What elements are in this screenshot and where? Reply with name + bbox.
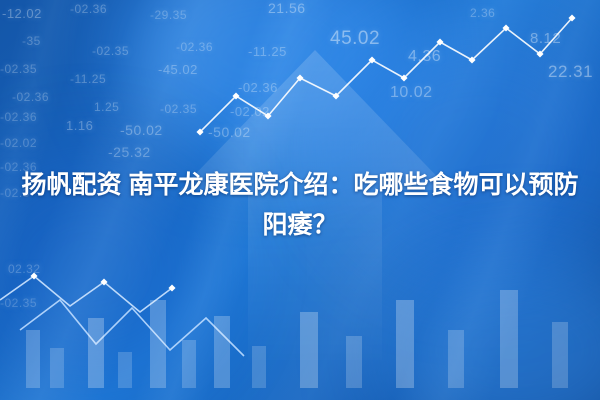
- background-number: 21.56: [268, 0, 306, 16]
- background-number: -02.36: [12, 90, 49, 104]
- headline-line-2: 阳痿？: [262, 211, 337, 239]
- background-number-layer: -12.02-02.36-29.3521.5645.022.368.12-35-…: [0, 0, 600, 400]
- chart-bar: [118, 352, 132, 388]
- chart-marker: [502, 24, 509, 31]
- background-glow-top-right: [330, 20, 600, 280]
- light-beam: [0, 0, 109, 400]
- chart-bar: [150, 300, 166, 388]
- chart-bar: [88, 318, 104, 388]
- chart-bar: [50, 348, 64, 388]
- light-beam: [360, 0, 600, 400]
- chart-marker: [332, 92, 339, 99]
- background-number: -12.02: [2, 6, 42, 21]
- background-number: -02.3: [0, 186, 30, 200]
- background-number: 2.36: [470, 6, 495, 20]
- chart-marker: [468, 56, 475, 63]
- chart-bar: [396, 300, 414, 388]
- chart-marker: [400, 74, 407, 81]
- light-beam: [97, 0, 374, 400]
- background-number: -02.36: [0, 160, 37, 174]
- chart-bar: [552, 322, 568, 388]
- up-arrow-icon: [150, 40, 480, 370]
- background-number: 45.02: [330, 28, 380, 50]
- background-number: -50.02: [120, 122, 163, 138]
- background-number: 8.12: [530, 30, 561, 47]
- background-glow-top-left: [120, 0, 420, 160]
- background-number: -11.25: [248, 44, 287, 59]
- chart-marker: [196, 128, 203, 135]
- headline-line-1: 扬帆配资 南平龙康医院介绍：吃哪些食物可以预防: [22, 171, 579, 199]
- promo-banner: -12.02-02.36-29.3521.5645.022.368.12-35-…: [0, 0, 600, 400]
- background-number: -02.35: [92, 44, 129, 58]
- background-number: 22.31: [548, 62, 593, 82]
- chart-line: [20, 300, 244, 356]
- chart-bar: [448, 330, 464, 388]
- background-number: -02.36: [0, 110, 37, 124]
- chart-marker: [30, 272, 37, 279]
- chart-marker: [264, 112, 271, 119]
- line-chart-overlay: [0, 0, 600, 400]
- light-beam: [0, 0, 296, 400]
- background-number: -02.36: [238, 80, 278, 95]
- background-number: 02.32: [8, 262, 41, 276]
- chart-marker: [100, 278, 107, 285]
- chart-line: [0, 276, 172, 312]
- page-title: 扬帆配资 南平龙康医院介绍：吃哪些食物可以预防 阳痿？: [20, 165, 580, 245]
- background-number: -02.36: [176, 40, 213, 54]
- background-glow-bottom-right: [380, 250, 600, 400]
- background-number: -02.02: [0, 136, 37, 150]
- background-number: 10.02: [390, 84, 433, 102]
- chart-line: [200, 18, 572, 132]
- background-number: -02.35: [0, 62, 37, 76]
- chart-bar: [500, 290, 518, 388]
- chart-bar: [300, 312, 318, 388]
- chart-marker: [536, 50, 543, 57]
- light-beam: [184, 0, 600, 400]
- chart-marker: [368, 56, 375, 63]
- chart-bar: [26, 330, 40, 388]
- background-number: -25.32: [108, 144, 151, 160]
- headline-band: 扬帆配资 南平龙康医院介绍：吃哪些食物可以预防 阳痿？: [0, 155, 600, 255]
- background-number: -02.35: [0, 296, 37, 310]
- chart-marker: [568, 14, 575, 21]
- background-number: -02.35: [160, 102, 197, 116]
- background-number: -45.02: [158, 62, 198, 77]
- chart-marker: [168, 284, 175, 291]
- background-number: 4.36: [408, 48, 441, 66]
- background-glow-bottom-left: [0, 150, 220, 390]
- background-number: -11.25: [70, 72, 106, 86]
- bar-chart-overlay: [0, 0, 600, 400]
- chart-marker: [232, 92, 239, 99]
- background-number: -29.35: [150, 8, 187, 22]
- chart-bar: [214, 316, 230, 388]
- background-number: 1.25: [94, 100, 119, 114]
- chart-marker: [296, 74, 303, 81]
- chart-marker: [436, 38, 443, 45]
- background-number: 1.16: [66, 118, 93, 133]
- chart-bar: [346, 336, 362, 388]
- background-number: -35: [22, 34, 41, 48]
- background-number: -02.36: [70, 2, 107, 16]
- background-number: -50.02: [208, 124, 251, 140]
- chart-bar: [252, 346, 266, 388]
- chart-bar: [182, 340, 196, 388]
- background-number: -02.02: [230, 104, 270, 119]
